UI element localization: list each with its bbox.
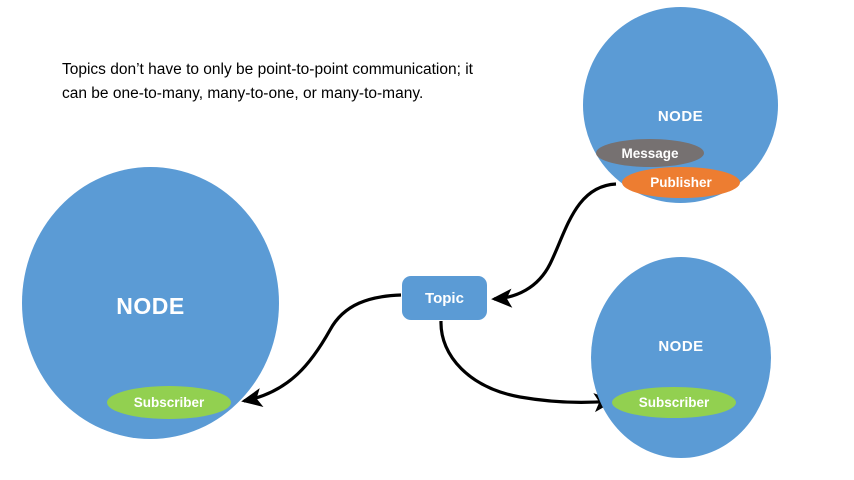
subscriber-pill-bottom-right: Subscriber [612,387,736,418]
caption-text: Topics don’t have to only be point-to-po… [62,58,482,106]
publisher-pill: Publisher [622,167,740,198]
node-label-left: NODE [22,293,279,320]
node-label-bottom-right: NODE [591,338,771,355]
subscriber-pill-left: Subscriber [107,386,231,419]
node-label-top-right: NODE [583,108,778,125]
arrow-publisher-to-topic [494,184,616,299]
arrow-topic-to-bottom-right-subscriber [441,321,612,402]
node-circle-bottom-right: NODE [591,257,771,458]
diagram-canvas: Topics don’t have to only be point-to-po… [0,0,854,480]
topic-box: Topic [402,276,487,320]
message-pill: Message [596,139,704,167]
